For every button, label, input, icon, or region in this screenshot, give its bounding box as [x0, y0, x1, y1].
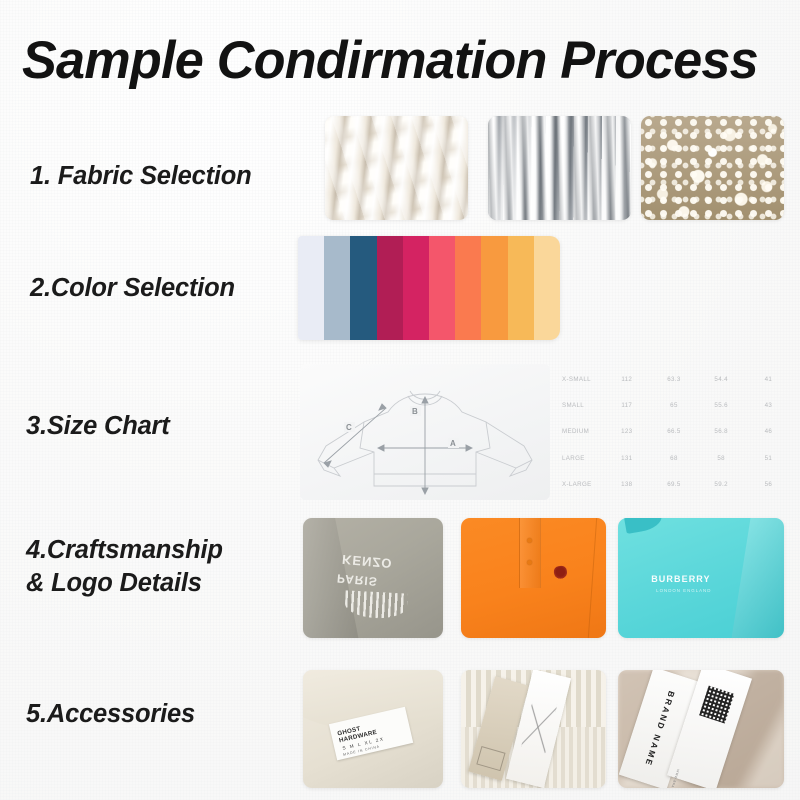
page-title: Sample Condirmation Process [22, 28, 771, 94]
size-cell-4: 51 [745, 445, 792, 471]
craftsmanship-label-line-1: 4.Craftsmanship [26, 536, 223, 564]
table-row: MEDIUM12366.556.846 [556, 419, 792, 445]
step-label-color-selection: 2.Color Selection [30, 272, 235, 305]
turquoise-collar [623, 518, 662, 534]
orange-polo-embroidered-logo[interactable] [461, 518, 606, 638]
step-label-fabric-selection: 1. Fabric Selection [30, 160, 252, 193]
size-cell-3: 56.8 [698, 419, 745, 445]
size-cell-0: SMALL [556, 392, 603, 418]
size-cell-3: 58 [698, 445, 745, 471]
woven-neck-label[interactable]: GHOST HARDWARE S M L XL 2X MADE IN CHINA [303, 670, 443, 788]
turquoise-logo-text: BURBERRY [651, 574, 710, 584]
size-cell-0: LARGE [556, 445, 603, 471]
color-swatch-6[interactable] [455, 236, 481, 340]
turquoise-logo-subtext: LONDON ENGLAND [656, 588, 711, 593]
size-cell-1: 117 [603, 392, 650, 418]
fabric-swatch-wavy-grey[interactable] [488, 116, 631, 220]
size-cell-3: 54.4 [698, 366, 745, 392]
color-swatch-9[interactable] [534, 236, 560, 340]
hang-tags-on-knit[interactable] [461, 670, 606, 788]
size-cell-1: 123 [603, 419, 650, 445]
beige-boucle-loop-pile-texture [641, 116, 784, 220]
size-cell-1: 131 [603, 445, 650, 471]
fabric-swatch-chunky-knit[interactable] [325, 116, 468, 220]
svg-text:C: C [346, 423, 352, 432]
svg-text:B: B [412, 407, 418, 416]
size-cell-4: 43 [745, 392, 792, 418]
size-cell-0: X-LARGE [556, 472, 603, 498]
sweater-measurement-diagram[interactable]: A B C [300, 364, 550, 500]
brand-name-text: BRAND NAME [642, 690, 676, 768]
table-row: SMALL1176555.643 [556, 392, 792, 418]
size-cell-4: 41 [745, 366, 792, 392]
step-label-accessories: 5.Accessories [26, 698, 195, 731]
handwritten-script-icon [521, 700, 557, 754]
size-cell-0: X-SMALL [556, 366, 603, 392]
size-cell-4: 56 [745, 472, 792, 498]
color-swatch-0[interactable] [298, 236, 324, 340]
brand-name-tags-qr[interactable]: BRAND NAME WWW.BRANDNAME.COM [618, 670, 784, 788]
table-row: LARGE131685851 [556, 445, 792, 471]
kenzo-paris-logo-fabric[interactable]: KENZO PARIS [303, 518, 443, 638]
poster-canvas: Sample Condirmation Process 1. Fabric Se… [0, 0, 800, 800]
size-cell-0: MEDIUM [556, 419, 603, 445]
kraft-tag-box [476, 747, 505, 772]
size-cell-2: 68 [650, 445, 697, 471]
fabric-swatch-boucle[interactable] [641, 116, 784, 220]
kenzo-logo-line-1: KENZO [342, 552, 394, 571]
size-cell-2: 63.3 [650, 366, 697, 392]
polo-side-seam [588, 518, 597, 638]
grey-wavy-marbled-weave-texture [488, 116, 631, 220]
polo-button-placket [519, 518, 541, 588]
craftsmanship-label-line-2: & Logo Details [26, 569, 202, 597]
qr-code-icon [700, 685, 735, 722]
color-swatch-4[interactable] [403, 236, 429, 340]
color-swatch-8[interactable] [508, 236, 534, 340]
size-measurement-table: X-SMALL11263.354.441SMALL1176555.643MEDI… [556, 366, 792, 498]
size-cell-1: 112 [603, 366, 650, 392]
size-cell-2: 66.5 [650, 419, 697, 445]
size-cell-3: 55.6 [698, 392, 745, 418]
polo-button-bottom-icon [527, 560, 532, 565]
embroidered-chest-logo-icon [553, 565, 568, 580]
color-palette-strip[interactable] [298, 236, 560, 340]
size-cell-4: 46 [745, 419, 792, 445]
svg-text:A: A [450, 439, 456, 448]
size-cell-2: 69.5 [650, 472, 697, 498]
table-row: X-SMALL11263.354.441 [556, 366, 792, 392]
color-swatch-3[interactable] [377, 236, 403, 340]
color-swatch-2[interactable] [350, 236, 376, 340]
step-label-craftsmanship: 4.Craftsmanship & Logo Details [26, 534, 296, 599]
size-cell-2: 65 [650, 392, 697, 418]
table-row: X-LARGE13869.559.256 [556, 472, 792, 498]
color-swatch-1[interactable] [324, 236, 350, 340]
size-cell-3: 59.2 [698, 472, 745, 498]
size-cell-1: 138 [603, 472, 650, 498]
chunky-cream-braided-knit-texture [325, 116, 468, 220]
turquoise-fabric-fold [730, 518, 784, 638]
color-swatch-5[interactable] [429, 236, 455, 340]
turquoise-tee-burberry-logo[interactable]: BURBERRY LONDON ENGLAND [618, 518, 784, 638]
color-swatch-7[interactable] [481, 236, 507, 340]
step-label-size-chart: 3.Size Chart [26, 410, 170, 443]
